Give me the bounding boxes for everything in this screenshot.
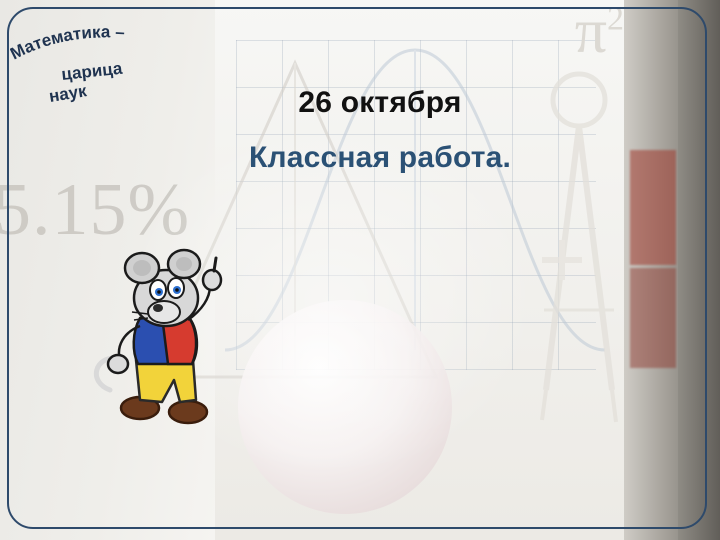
formula-watermark-symbol: π: [575, 0, 607, 66]
svg-text:Математика –: Математика –: [10, 22, 125, 63]
svg-text:наук: наук: [48, 81, 89, 106]
svg-text:царица: царица: [60, 59, 123, 84]
slide-canvas: 5.15% π2 Математика – царица наук Матема…: [0, 0, 720, 540]
lesson-date: 26 октября: [180, 86, 580, 121]
cartoon-mouse-icon: [88, 240, 258, 430]
background-red-block-upper: [630, 150, 676, 265]
corner-motto: Математика – царица наук Математика – ца…: [10, 18, 200, 108]
sphere-shape: [238, 300, 452, 514]
title-block: 26 октября Классная работа.: [180, 86, 580, 175]
formula-watermark: π2: [575, 0, 624, 68]
lesson-heading: Классная работа.: [180, 141, 580, 176]
formula-watermark-exponent: 2: [607, 1, 624, 38]
background-right-dark-strip: [678, 0, 720, 540]
background-red-block-lower: [630, 268, 676, 368]
